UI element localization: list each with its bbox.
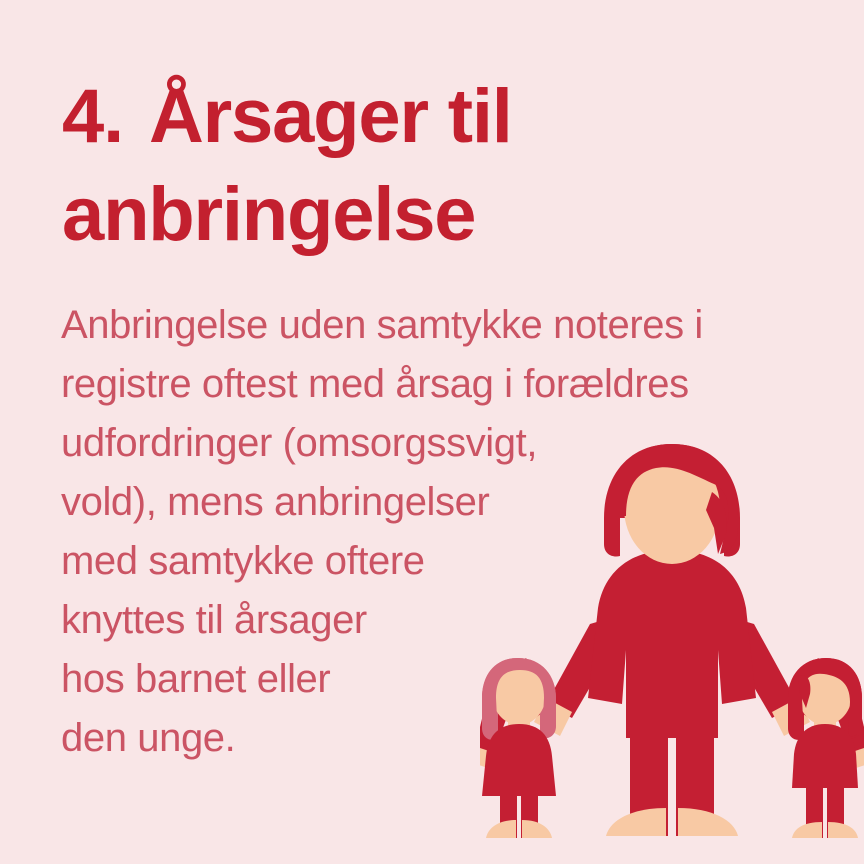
adult-right-foot xyxy=(678,808,738,836)
child-right-shirt xyxy=(792,724,858,788)
child-left-foot-2 xyxy=(522,820,552,838)
child-right-foot-1 xyxy=(792,822,822,838)
child-right-foot-2 xyxy=(828,822,858,838)
title-number: 4. xyxy=(62,74,123,159)
body-line: registre oftest med årsag i forældres xyxy=(61,355,821,414)
adult-torso xyxy=(588,550,756,738)
family-illustration xyxy=(480,436,864,864)
slide-canvas: 4.Årsager til anbringelse Anbringelse ud… xyxy=(0,0,864,864)
adult-figure xyxy=(534,444,810,836)
title-line-1: 4.Årsager til xyxy=(62,68,702,166)
body-line: Anbringelse uden samtykke noteres i xyxy=(61,296,821,355)
title-line-2: anbringelse xyxy=(62,166,702,264)
child-right-figure xyxy=(788,658,864,838)
child-left-foot-1 xyxy=(486,820,516,838)
child-left-figure xyxy=(480,658,556,838)
page-title: 4.Årsager til anbringelse xyxy=(62,68,702,264)
adult-left-foot xyxy=(606,808,666,836)
title-text-first: Årsager til xyxy=(149,74,512,159)
